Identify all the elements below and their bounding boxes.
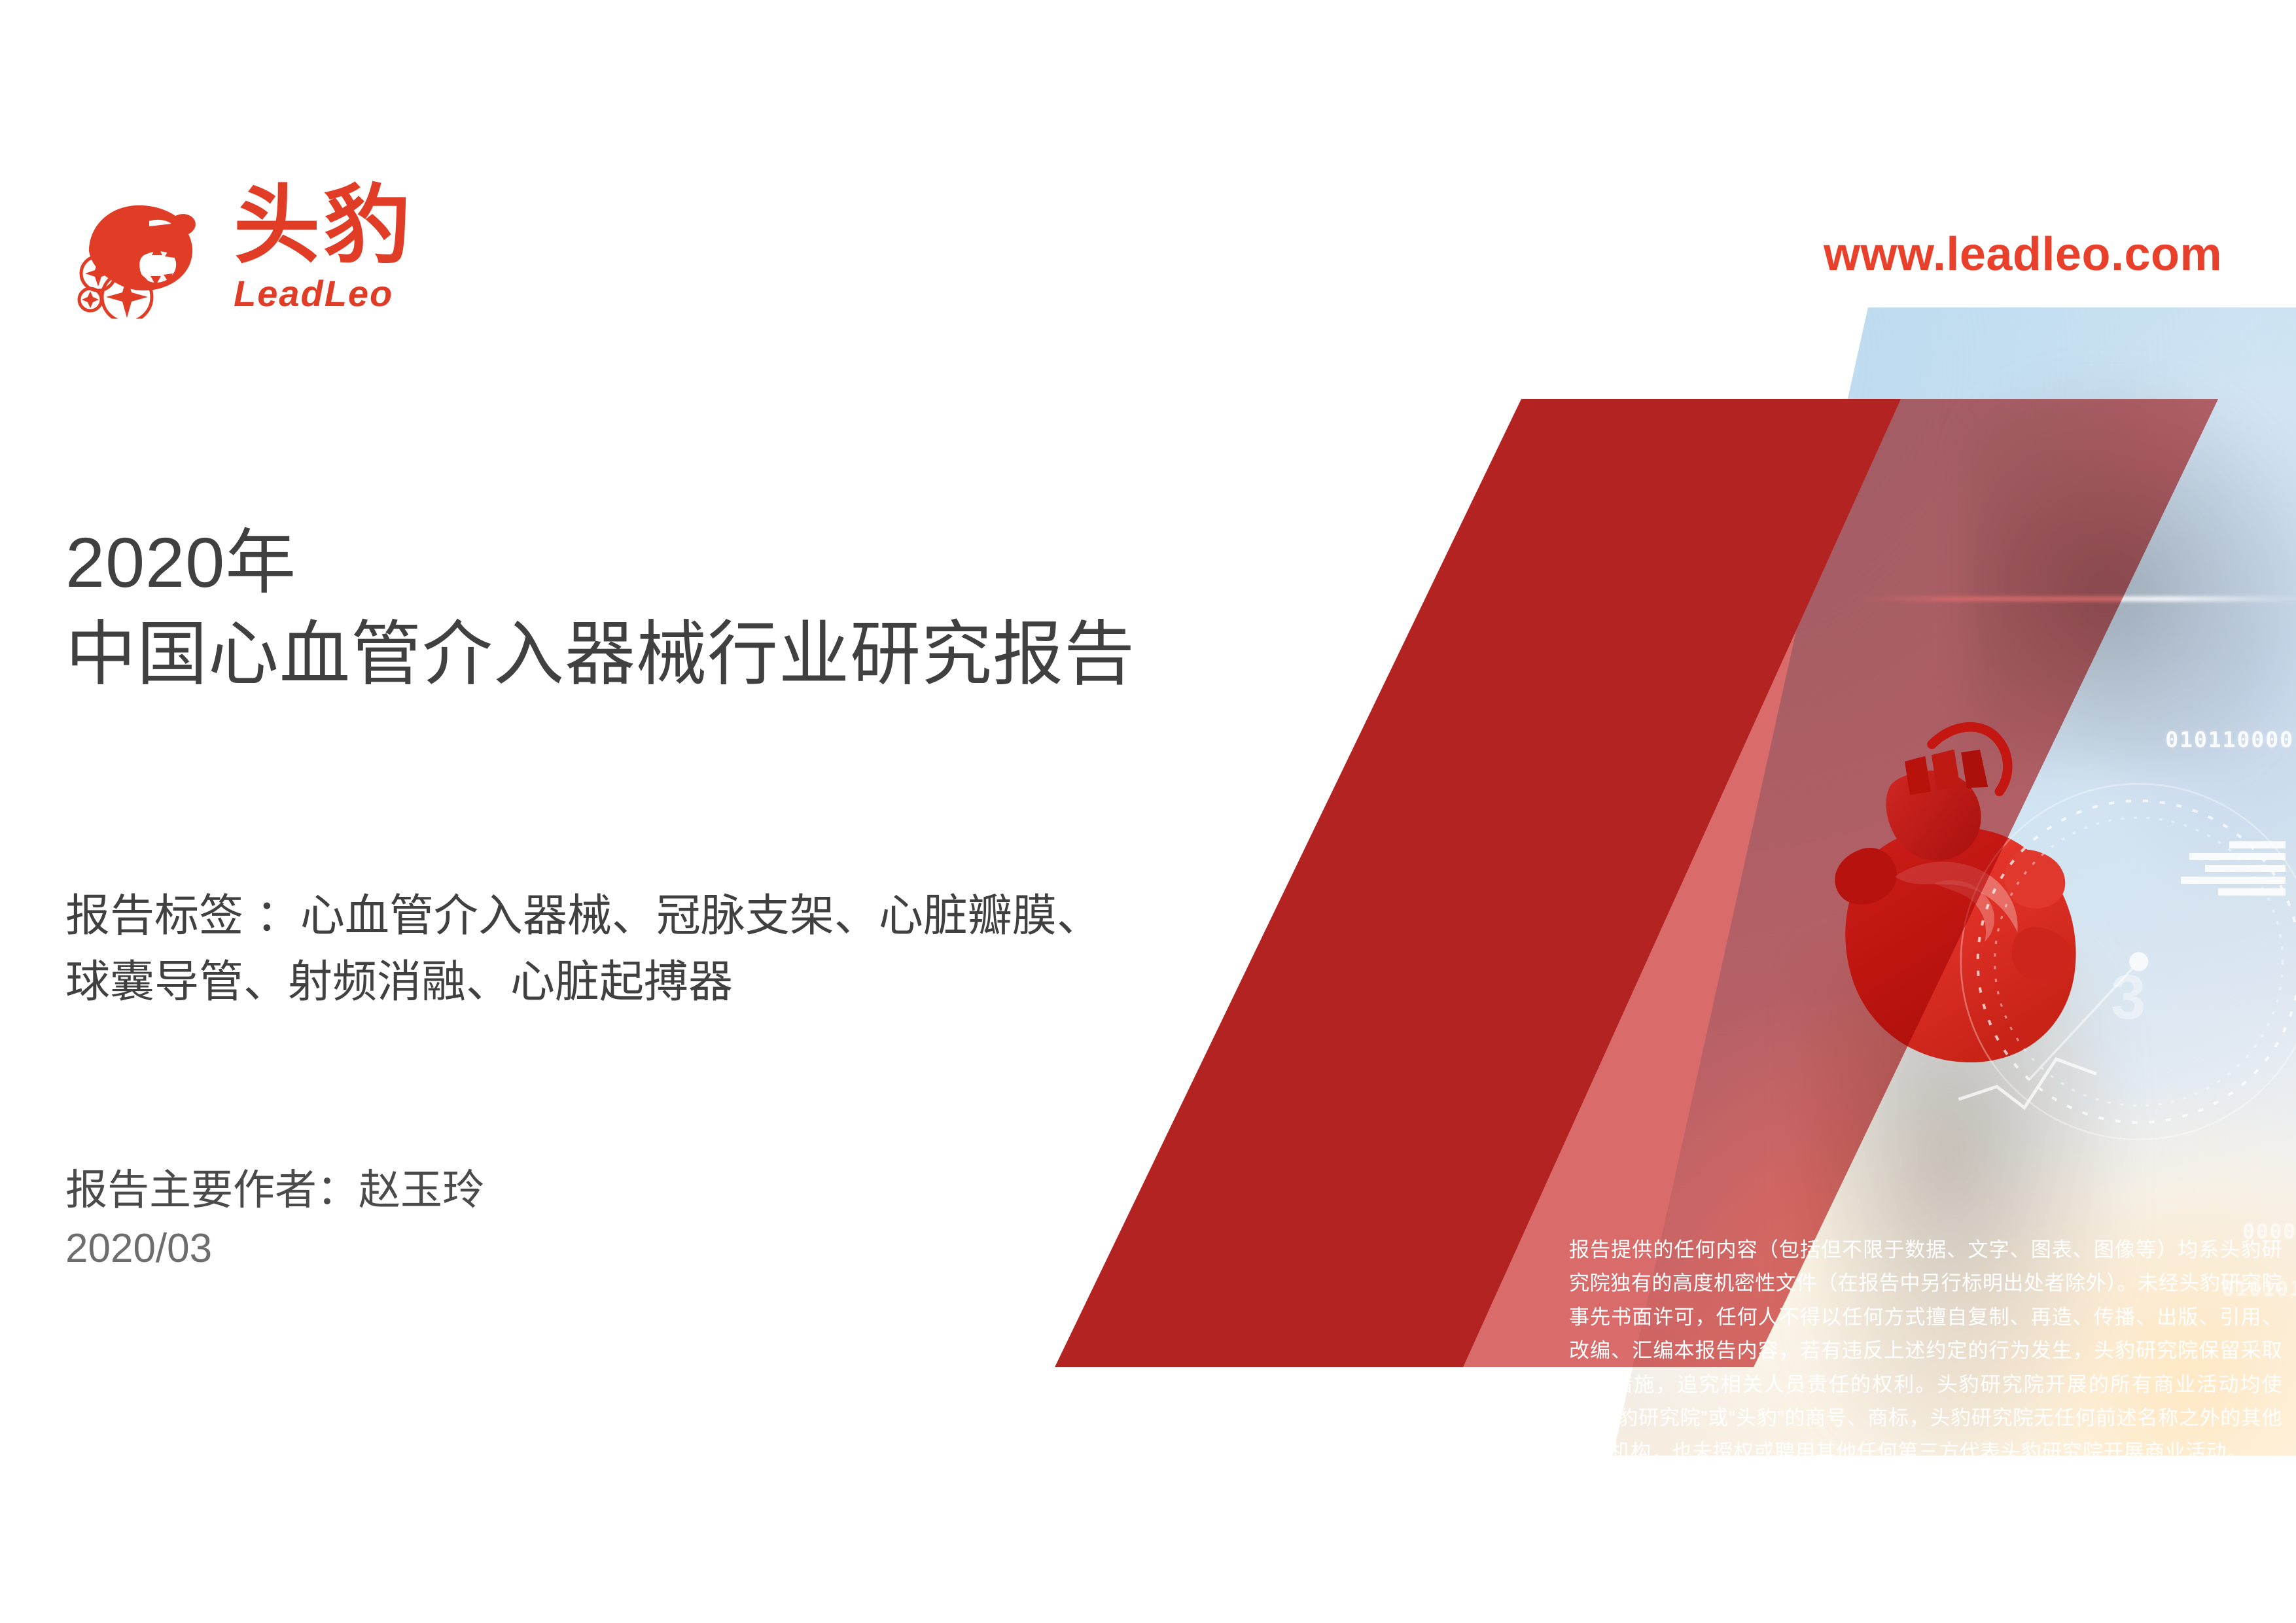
binary-text-1: 0101100001 1 xyxy=(2165,727,2296,752)
legal-disclaimer: 报告提供的任何内容（包括但不限于数据、文字、图表、图像等）均系头豹研究院独有的高… xyxy=(1569,1233,2282,1469)
title-year: 2020年 xyxy=(65,517,1135,608)
report-tags-line-1: 报告标签 ：心血管介入器械、冠脉支架、心脏瓣膜、 xyxy=(65,883,1217,949)
leopard-head-icon xyxy=(71,178,211,319)
brand-wordmark: 头豹 LeadLeo xyxy=(234,182,414,315)
page-title: 2020年 中国心血管介入器械行业研究报告 xyxy=(65,517,1135,701)
brand-name-en: LeadLeo xyxy=(234,272,393,315)
website-url[interactable]: www.leadleo.com xyxy=(1824,228,2222,281)
report-author: 报告主要作者：赵玉玲 2020/03 xyxy=(65,1161,484,1278)
brand-name-cn: 头豹 xyxy=(234,182,414,270)
author-name: 报告主要作者：赵玉玲 xyxy=(65,1161,484,1220)
report-date: 2020/03 xyxy=(65,1220,484,1278)
brand-logo[interactable]: 头豹 LeadLeo xyxy=(71,178,414,319)
data-bars-decoration xyxy=(2176,841,2286,956)
report-cover-page: 头豹 LeadLeo www.leadleo.com xyxy=(0,0,2296,1623)
report-tags: 报告标签 ：心血管介入器械、冠脉支架、心脏瓣膜、 球囊导管、射频消融、心脏起搏器 xyxy=(65,883,1217,1015)
report-tags-line-2: 球囊导管、射频消融、心脏起搏器 xyxy=(65,949,1217,1015)
title-main: 中国心血管介入器械行业研究报告 xyxy=(65,608,1135,700)
ghost-number: 3 xyxy=(2111,962,2146,1034)
